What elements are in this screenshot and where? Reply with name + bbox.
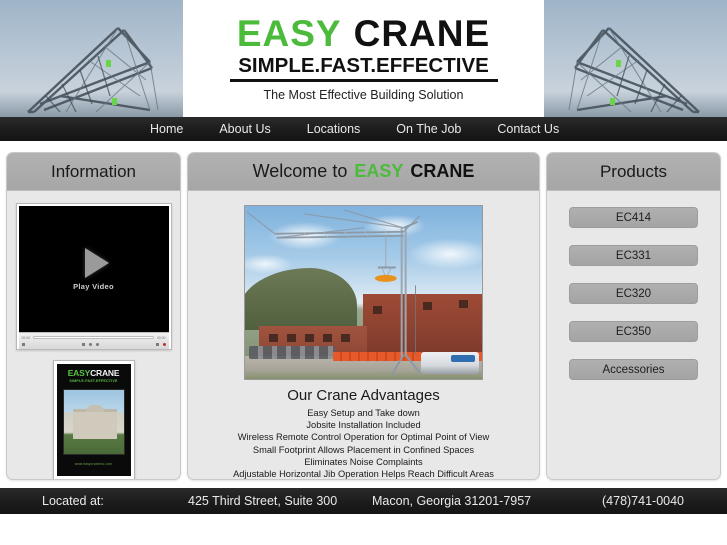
- crane-overlay-graphic: [245, 206, 482, 380]
- products-panel-title: Products: [547, 153, 720, 191]
- video-control-bar: 00:00 00:00: [19, 332, 169, 349]
- video-buttons-row: [22, 341, 166, 348]
- advantage-item: Jobsite Installation Included: [196, 419, 531, 431]
- information-panel-title: Information: [7, 153, 180, 191]
- site-footer: Located at: 425 Third Street, Suite 300 …: [0, 488, 727, 514]
- advantage-item: Wireless Remote Control Operation for Op…: [196, 431, 531, 443]
- video-email-button[interactable]: [82, 343, 85, 346]
- brochure-word-crane: CRANE: [90, 368, 119, 378]
- logo-word-crane: CRANE: [354, 13, 491, 54]
- site-header: EASYCRANE SIMPLE.FAST.EFFECTIVE The Most…: [0, 0, 727, 117]
- main-navigation: Home About Us Locations On The Job Conta…: [0, 117, 727, 141]
- advantages-title: Our Crane Advantages: [196, 387, 531, 404]
- video-player[interactable]: Play Video 00:00 00:00: [16, 203, 172, 350]
- product-button-ec320[interactable]: EC320: [569, 283, 698, 304]
- video-play-button[interactable]: [22, 343, 25, 346]
- advantage-item: Small Footprint Allows Placement in Conf…: [196, 444, 531, 456]
- video-screen[interactable]: Play Video: [19, 206, 169, 332]
- header-crane-photo-left: [0, 0, 190, 117]
- nav-item-about-us[interactable]: About Us: [219, 122, 270, 136]
- video-get-code-button[interactable]: [96, 343, 99, 346]
- product-button-ec331[interactable]: EC331: [569, 245, 698, 266]
- site-logo[interactable]: EASYCRANE SIMPLE.FAST.EFFECTIVE The Most…: [183, 0, 544, 117]
- welcome-word-easy: EASY: [354, 161, 403, 182]
- nav-item-on-the-job[interactable]: On The Job: [396, 122, 461, 136]
- main-panel-body: Our Crane Advantages Easy Setup and Take…: [188, 191, 539, 480]
- footer-phone-number: (478)741-0040: [602, 494, 684, 508]
- header-crane-photo-right: [537, 0, 727, 117]
- brochure-building-photo: [63, 389, 125, 455]
- jobsite-crane-photo: [244, 205, 483, 380]
- video-time-current: 00:00: [22, 336, 31, 340]
- logo-wordmark: EASYCRANE: [237, 15, 490, 52]
- products-list: EC414 EC331 EC320 EC350 Accessories: [547, 191, 720, 388]
- page-root: EASYCRANE SIMPLE.FAST.EFFECTIVE The Most…: [0, 0, 727, 545]
- information-panel: Information Play Video 00:00 00:00: [6, 152, 181, 480]
- advantage-item: Adjustable Horizontal Jib Operation Help…: [196, 468, 531, 480]
- brochure-wordmark: EASYCRANE: [68, 369, 120, 378]
- welcome-prefix: Welcome to: [253, 161, 348, 182]
- product-button-ec350[interactable]: EC350: [569, 321, 698, 342]
- logo-subtitle: SIMPLE.FAST.EFFECTIVE: [238, 56, 489, 77]
- advantage-item: Eliminates Noise Complaints: [196, 456, 531, 468]
- brochure-word-easy: EASY: [68, 368, 90, 378]
- video-seek-bar[interactable]: [33, 336, 154, 339]
- information-panel-body: Play Video 00:00 00:00: [7, 191, 180, 480]
- play-icon[interactable]: [85, 248, 109, 278]
- welcome-heading: Welcome to EASY CRANE: [188, 153, 539, 191]
- main-content-panel: Welcome to EASY CRANE: [187, 152, 540, 480]
- product-button-ec414[interactable]: EC414: [569, 207, 698, 228]
- footer-located-at-label: Located at:: [42, 494, 104, 508]
- video-fullscreen-button[interactable]: [156, 343, 159, 346]
- brochure-url: www.easycraneinc.com: [75, 462, 112, 466]
- products-panel: Products EC414 EC331 EC320 EC350 Accesso…: [546, 152, 721, 480]
- brochure-thumbnail[interactable]: EASYCRANE SIMPLE.FAST.EFFECTIVE www.easy…: [53, 360, 135, 480]
- video-seek-row: 00:00 00:00: [22, 334, 166, 341]
- welcome-word-crane: CRANE: [410, 161, 474, 182]
- video-time-duration: 00:00: [157, 336, 166, 340]
- advantages-list: Easy Setup and Take down Jobsite Install…: [196, 407, 531, 480]
- brochure-subtitle: SIMPLE.FAST.EFFECTIVE: [69, 379, 117, 383]
- product-button-accessories[interactable]: Accessories: [569, 359, 698, 380]
- video-record-indicator: [163, 343, 166, 346]
- logo-tagline: The Most Effective Building Solution: [264, 88, 464, 102]
- footer-city-state-zip: Macon, Georgia 31201-7957: [372, 494, 531, 508]
- logo-divider-rule: [230, 79, 498, 82]
- advantage-item: Easy Setup and Take down: [196, 407, 531, 419]
- nav-item-contact-us[interactable]: Contact Us: [497, 122, 559, 136]
- play-video-label: Play Video: [73, 282, 114, 291]
- video-get-link-button[interactable]: [89, 343, 92, 346]
- nav-item-locations[interactable]: Locations: [307, 122, 361, 136]
- nav-item-home[interactable]: Home: [150, 122, 183, 136]
- logo-word-easy: EASY: [237, 13, 342, 54]
- footer-street-address: 425 Third Street, Suite 300: [188, 494, 337, 508]
- brochure-cover: EASYCRANE SIMPLE.FAST.EFFECTIVE www.easy…: [57, 364, 131, 476]
